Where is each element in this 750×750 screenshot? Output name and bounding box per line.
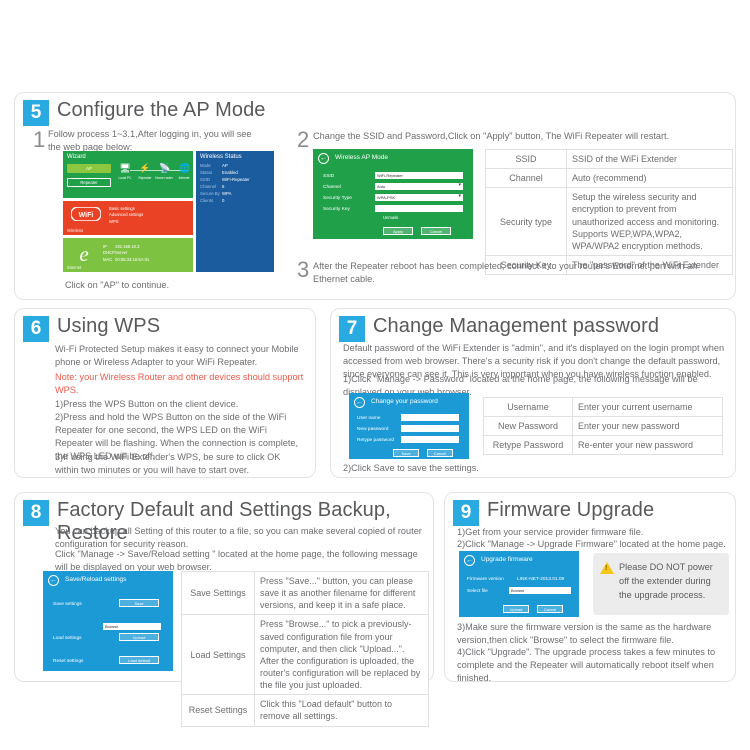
ap-security-key-input[interactable] <box>375 205 463 212</box>
status-value-5: 0 <box>222 198 224 203</box>
ap-table-value-0: SSID of the WiFi Extender <box>567 150 733 169</box>
fw-version-label: Firmware version <box>467 577 504 582</box>
internet-info: IP192.168.16.3 DHCPServer MAC00:55:33:16… <box>103 244 149 263</box>
bk-table-key-2: Reset Settings <box>182 695 255 726</box>
bk-table-value-0: Press "Save..." button, you can please s… <box>255 572 429 615</box>
ap-settings-table: SSIDSSID of the WiFi Extender ChannelAut… <box>485 149 733 275</box>
backup-table: Save SettingsPress "Save..." button, you… <box>181 571 429 727</box>
wps-step-3: 3)If using the WiFi Extender's WPS, be s… <box>55 451 305 477</box>
back-arrow-icon[interactable]: ← <box>354 397 365 408</box>
fw-upload-button[interactable]: Upload <box>503 605 529 613</box>
internet-icon: 🌐 <box>178 163 192 174</box>
sr-panel-header: Save/Reload settings <box>65 576 126 583</box>
status-label-0: Mode <box>200 163 222 168</box>
router-admin-ui-mock: Wizard AP Repeater 🖥 Local PC ⚡ Repeater… <box>63 151 274 275</box>
ap-field-label-0: SSID <box>323 174 334 179</box>
section-7-title: Change Management password <box>373 315 659 338</box>
sr-file-input[interactable]: Browse <box>103 623 161 630</box>
wps-note: Note: your Wireless Router and other dev… <box>55 371 305 397</box>
section-9-badge: 9 <box>453 500 479 526</box>
svg-text:WiFi: WiFi <box>79 212 94 219</box>
status-value-0: AP <box>222 163 228 168</box>
tile-wizard-title: Wizard <box>67 154 86 160</box>
repeater-icon: ⚡ <box>138 163 152 174</box>
topology-diagram: 🖥 Local PC ⚡ Repeater 📡 Home router 🌐 In… <box>118 161 190 191</box>
ap-security-type-value: WPA-PSK <box>375 194 463 201</box>
sr-save-button[interactable]: Save <box>119 599 159 607</box>
step-3-text: After the Repeater reboot has been compl… <box>313 260 733 286</box>
change-password-panel: ← Change your password User name New pas… <box>349 393 469 459</box>
tile-wizard[interactable]: Wizard AP Repeater 🖥 Local PC ⚡ Repeater… <box>63 151 193 198</box>
ap-security-type-select[interactable]: WPA-PSK <box>375 194 463 201</box>
table-row: SSIDSSID of the WiFi Extender <box>486 150 733 169</box>
flow-label-1: Repeater <box>135 176 155 180</box>
table-row: Reset SettingsClick this "Load default" … <box>182 695 429 726</box>
power-warning-box: Please DO NOT power off the extender dur… <box>593 553 729 615</box>
fw-file-label: Select file <box>467 589 488 594</box>
table-row: Save SettingsPress "Save..." button, you… <box>182 572 429 615</box>
fw-file-input[interactable]: Browse <box>509 587 571 594</box>
net-value-0: 192.168.16.3 <box>115 244 139 249</box>
fw-cancel-button[interactable]: Cancel <box>537 605 563 613</box>
table-row: Load SettingsPress "Browse..." to pick a… <box>182 615 429 695</box>
back-arrow-icon[interactable]: ← <box>48 575 59 586</box>
pw-table-key-0: Username <box>484 398 573 417</box>
section-9-title: Firmware Upgrade <box>487 499 654 522</box>
ap-field-label-2: Security Type <box>323 196 352 201</box>
status-value-2: WiFi-Repeater <box>222 177 250 182</box>
ap-cancel-button[interactable]: Cancel <box>421 227 451 235</box>
net-value-2: 00:55:33:16:5A:01 <box>115 257 149 262</box>
pw-field-label-1: New password <box>357 427 388 432</box>
section-9-card: 9 Firmware Upgrade 1)Get from your servi… <box>444 492 736 682</box>
table-row: Security typeSetup the wireless security… <box>486 188 733 256</box>
step-2-text: Change the SSID and Password,Click on "A… <box>313 130 733 143</box>
firmware-step-3: 3)Make sure the firmware version is the … <box>457 621 732 647</box>
section-6-badge: 6 <box>23 316 49 342</box>
fw-panel-header: Upgrade firmware <box>481 556 533 563</box>
tile-wireless-status: Wireless Status ModeAP StatusEnabled SSI… <box>196 151 274 272</box>
section-5-title: Configure the AP Mode <box>57 99 266 122</box>
ap-ssid-input[interactable]: WiFi-Repeater <box>375 172 463 179</box>
upgrade-firmware-panel: ← Upgrade firmware Firmware version LINK… <box>459 551 579 617</box>
status-label-3: Channel <box>200 184 222 189</box>
bk-table-key-1: Load Settings <box>182 615 255 695</box>
warning-triangle-icon <box>600 562 614 574</box>
section-7-card: 7 Change Management password Default pas… <box>330 308 736 478</box>
pw-field-label-0: User name <box>357 416 380 421</box>
pw-field-label-2: Retype password <box>357 438 394 443</box>
net-label-2: MAC <box>103 257 115 263</box>
pw-table-value-1: Enter your new password <box>573 417 723 436</box>
sr-file-value: Browse <box>103 623 161 630</box>
bk-table-value-2: Click this "Load default" button to remo… <box>255 695 429 726</box>
step-2-number: 2 <box>297 129 309 151</box>
pw-new-password-input[interactable] <box>401 425 459 432</box>
instruction-sheet: 5 Configure the AP Mode 1 Follow process… <box>0 0 750 750</box>
ap-channel-select[interactable]: Auto <box>375 183 463 190</box>
sr-label-0: Save settings <box>53 602 82 607</box>
router-icon: 📡 <box>158 163 172 174</box>
section-5-badge: 5 <box>23 100 49 126</box>
table-row: Retype PasswordRe-enter your new passwor… <box>484 436 723 455</box>
sr-label-1: Load settings <box>53 636 82 641</box>
svg-text:e: e <box>79 242 88 264</box>
wifi-link-1[interactable]: Advanced settings <box>109 212 143 218</box>
bk-table-key-0: Save Settings <box>182 572 255 615</box>
ap-table-value-1: Auto (recommend) <box>567 169 733 188</box>
flow-label-2: Home router <box>154 176 174 180</box>
wizard-repeater-button[interactable]: Repeater <box>67 178 111 187</box>
pc-icon: 🖥 <box>118 163 132 174</box>
ap-table-key-0: SSID <box>486 150 567 169</box>
wps-step-1: 1)Press the WPS Button on the client dev… <box>55 398 305 411</box>
firmware-step-4: 4)Click "Upgrade". The upgrade process t… <box>457 646 732 685</box>
status-value-4: WPA <box>222 191 231 196</box>
table-row: UsernameEnter your current username <box>484 398 723 417</box>
wifi-icon: WiFi <box>71 207 101 226</box>
table-row: New PasswordEnter your new password <box>484 417 723 436</box>
tile-internet-label: Internet <box>67 265 81 270</box>
status-value-3: 6 <box>222 184 224 189</box>
ap-table-key-2: Security type <box>486 188 567 256</box>
ap-channel-value: Auto <box>375 183 463 190</box>
tile-wireless-label: Wireless <box>67 228 83 233</box>
status-label-5: Clients <box>200 198 222 203</box>
wifi-links: Basic settings Advanced settings WPS <box>109 206 143 225</box>
firmware-step-2: 2)Click "Manage -> Upgrade Firmware" loc… <box>457 538 732 551</box>
pw-save-button[interactable]: Save <box>393 449 419 457</box>
back-arrow-icon[interactable]: ← <box>464 555 475 566</box>
section-6-title: Using WPS <box>57 315 160 338</box>
tile-status-title: Wireless Status <box>200 154 242 160</box>
sr-upload-button[interactable]: Upload <box>119 633 159 641</box>
status-value-1: Enabled <box>222 170 238 175</box>
pw-table-value-2: Re-enter your new password <box>573 436 723 455</box>
password-table: UsernameEnter your current username New … <box>483 397 723 455</box>
pw-table-value-0: Enter your current username <box>573 398 723 417</box>
flow-label-0: Local PC <box>115 176 135 180</box>
section-7-badge: 7 <box>339 316 365 342</box>
password-step-2: 2)Click Save to save the settings. <box>343 462 643 475</box>
pw-cancel-button[interactable]: Cancel <box>427 449 453 457</box>
status-label-1: Status <box>200 170 222 175</box>
ap-apply-button[interactable]: Apply <box>383 227 413 235</box>
pw-username-input[interactable] <box>401 414 459 421</box>
section-8-badge: 8 <box>23 500 49 526</box>
table-row: ChannelAuto (recommend) <box>486 169 733 188</box>
sr-load-default-button[interactable]: Load default <box>119 656 159 664</box>
ap-table-value-2: Setup the wireless security and encrypti… <box>567 188 733 256</box>
fw-file-value: Browse <box>509 587 571 594</box>
pw-retype-password-input[interactable] <box>401 436 459 443</box>
pw-table-key-1: New Password <box>484 417 573 436</box>
section-8-card: 8 Factory Default and Settings Backup, R… <box>14 492 434 682</box>
bk-table-value-1: Press "Browse..." to pick a previously-s… <box>255 615 429 695</box>
back-arrow-icon[interactable]: ← <box>318 153 329 164</box>
save-reload-settings-panel: ← Save/Reload settings Save settings Sav… <box>43 571 173 671</box>
ap-table-key-1: Channel <box>486 169 567 188</box>
tile-internet[interactable]: e IP192.168.16.3 DHCPServer MAC00:55:33:… <box>63 238 193 272</box>
flow-label-3: Internet <box>174 176 193 180</box>
wps-intro: Wi-Fi Protected Setup makes it easy to c… <box>55 343 305 369</box>
step-3-number: 3 <box>297 259 309 281</box>
unmask-checkbox[interactable]: Unmask <box>383 215 398 220</box>
ap-ssid-value: WiFi-Repeater <box>375 172 463 179</box>
section-5-caption: Click on "AP" to continue. <box>65 279 265 292</box>
wireless-ap-mode-panel: ← Wireless AP Mode SSID WiFi-Repeater Ch… <box>313 149 473 239</box>
ap-field-label-3: Security Key <box>323 207 350 212</box>
step-1-number: 1 <box>33 129 45 151</box>
tile-wireless[interactable]: WiFi Basic settings Advanced settings WP… <box>63 201 193 235</box>
status-label-2: SSID <box>200 177 222 182</box>
ap-field-label-1: Channel <box>323 185 341 190</box>
status-label-4: Secure By <box>200 191 222 196</box>
wizard-ap-button[interactable]: AP <box>67 164 111 173</box>
ap-panel-header: Wireless AP Mode <box>335 154 388 161</box>
sr-label-2: Reset settings <box>53 659 83 664</box>
section-6-card: 6 Using WPS Wi-Fi Protected Setup makes … <box>14 308 316 478</box>
pw-table-key-2: Retype Password <box>484 436 573 455</box>
warning-text: Please DO NOT power off the extender dur… <box>619 561 721 602</box>
section-5-card: 5 Configure the AP Mode 1 Follow process… <box>14 92 736 300</box>
fw-version-value: LINK-NET-2013.01.09 <box>517 577 564 582</box>
net-value-1: Server <box>115 250 127 255</box>
pw-panel-header: Change your password <box>371 398 438 405</box>
wifi-link-2[interactable]: WPS <box>109 219 143 225</box>
